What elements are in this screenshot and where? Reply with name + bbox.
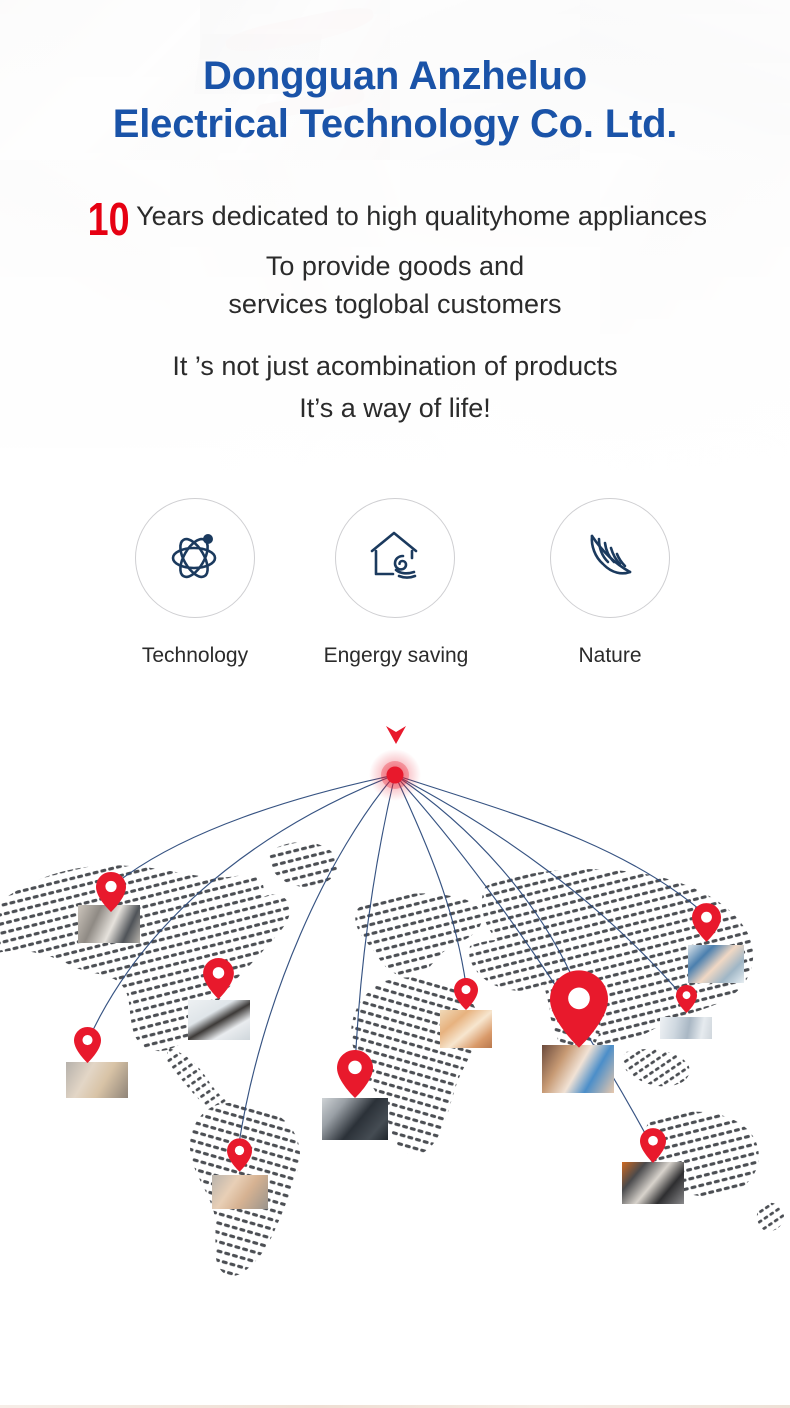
leaf-icon — [578, 524, 642, 593]
tagline-line-3: services toglobal customers — [0, 285, 790, 323]
feature-label: Technology — [105, 644, 285, 668]
location-photo — [660, 1017, 712, 1039]
map-canvas — [0, 700, 790, 1300]
hub-marker — [387, 767, 404, 784]
map-pin[interactable] — [550, 970, 608, 1048]
map-pin[interactable] — [203, 958, 234, 999]
location-photo — [440, 1010, 492, 1048]
title-line-2: Electrical Technology Co. Ltd. — [0, 100, 790, 148]
location-photo — [542, 1045, 614, 1093]
house-wave-icon — [363, 524, 427, 593]
location-photo — [212, 1175, 268, 1209]
location-photo — [188, 1000, 250, 1040]
map-pin[interactable] — [96, 872, 126, 912]
feature-row: Technology Engergy saving — [95, 498, 695, 683]
map-pin[interactable] — [74, 1027, 101, 1063]
location-photo — [66, 1062, 128, 1098]
title-line-1: Dongguan Anzheluo — [203, 54, 587, 98]
atom-icon — [163, 524, 227, 593]
page-title: Dongguan Anzheluo Electrical Technology … — [0, 52, 790, 148]
feature-icon-circle — [550, 498, 670, 618]
tagline-line-4: It ’s not just acombination of products — [0, 345, 790, 387]
years-text: Years dedicated to high qualityhome appl… — [136, 199, 707, 233]
feature-nature[interactable]: Nature — [520, 498, 700, 668]
location-photo — [322, 1098, 388, 1140]
promo-page: SOLEUSAIR Dongguan Anzheluo Electrical T… — [0, 0, 790, 1408]
feature-label: Nature — [520, 644, 700, 668]
tagline-block-2: It ’s not just acombination of products … — [0, 345, 790, 429]
map-pin[interactable] — [227, 1138, 252, 1172]
years-headline: 10Years dedicated to high qualityhome ap… — [0, 196, 790, 242]
map-pin[interactable] — [454, 978, 478, 1010]
feature-icon-circle — [335, 498, 455, 618]
world-map — [0, 700, 790, 1300]
map-pin[interactable] — [640, 1128, 666, 1163]
tagline-line-5: It’s a way of life! — [0, 387, 790, 429]
feature-label: Engergy saving — [307, 644, 485, 668]
feature-technology[interactable]: Technology — [105, 498, 285, 668]
map-pin[interactable] — [692, 903, 721, 942]
location-photo — [688, 945, 744, 983]
map-pin[interactable] — [337, 1050, 373, 1098]
map-pin[interactable] — [676, 985, 697, 1013]
location-photo — [622, 1162, 684, 1204]
feature-energy-saving[interactable]: Engergy saving — [305, 498, 485, 668]
tagline-line-2: To provide goods and — [0, 247, 790, 285]
tagline-block-1: To provide goods and services toglobal c… — [0, 247, 790, 323]
feature-icon-circle — [135, 498, 255, 618]
years-number: 10 — [88, 196, 130, 242]
chevron-down-icon — [384, 724, 408, 746]
